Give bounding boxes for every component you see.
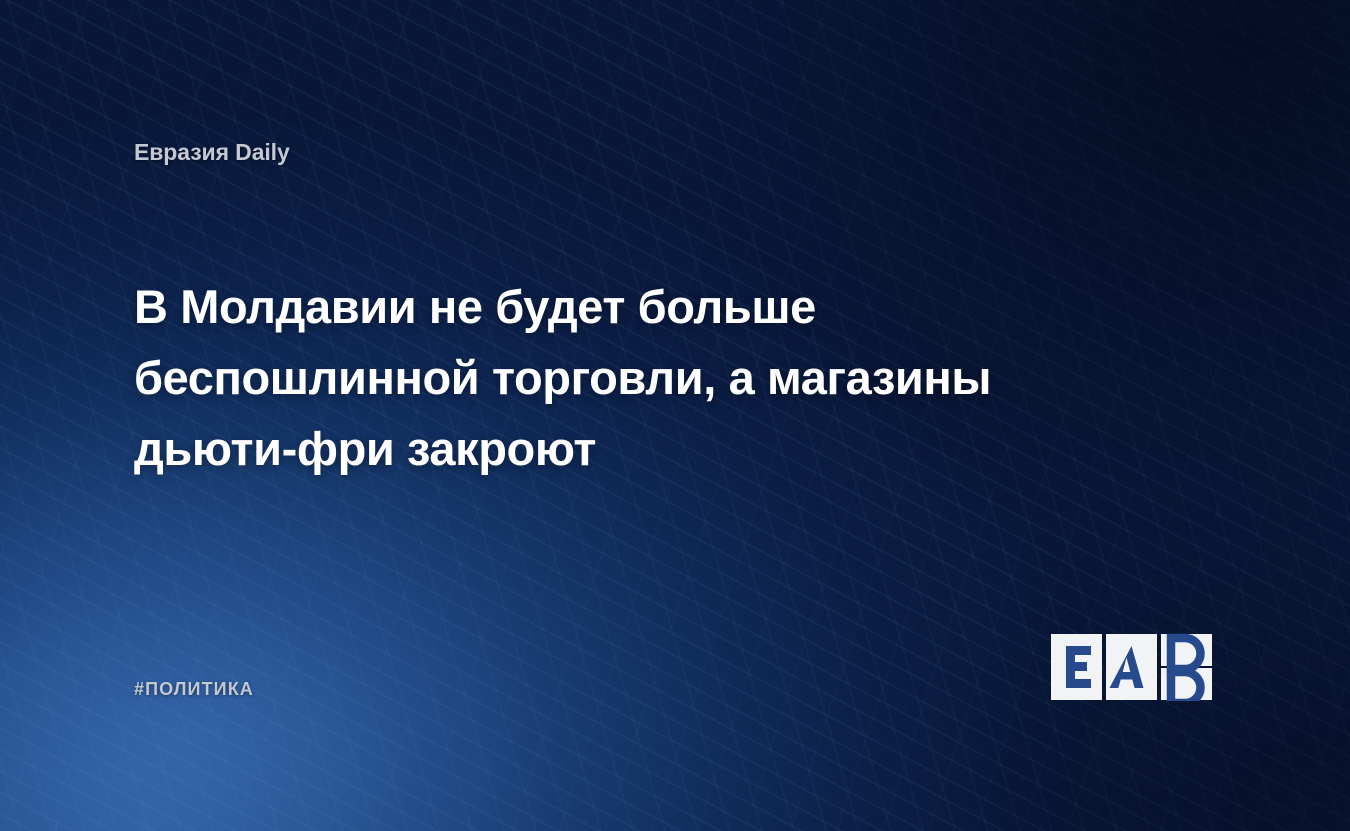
eadaily-logo[interactable] bbox=[1050, 633, 1230, 701]
category-tag[interactable]: #ПОЛИТИКА bbox=[134, 679, 254, 700]
card-content: Евразия Daily В Молдавии не будет больше… bbox=[0, 0, 1350, 831]
headline: В Молдавии не будет больше беспошлинной … bbox=[134, 271, 1144, 484]
site-name: Евразия Daily bbox=[134, 139, 290, 165]
news-card: Евразия Daily В Молдавии не будет больше… bbox=[0, 0, 1350, 831]
